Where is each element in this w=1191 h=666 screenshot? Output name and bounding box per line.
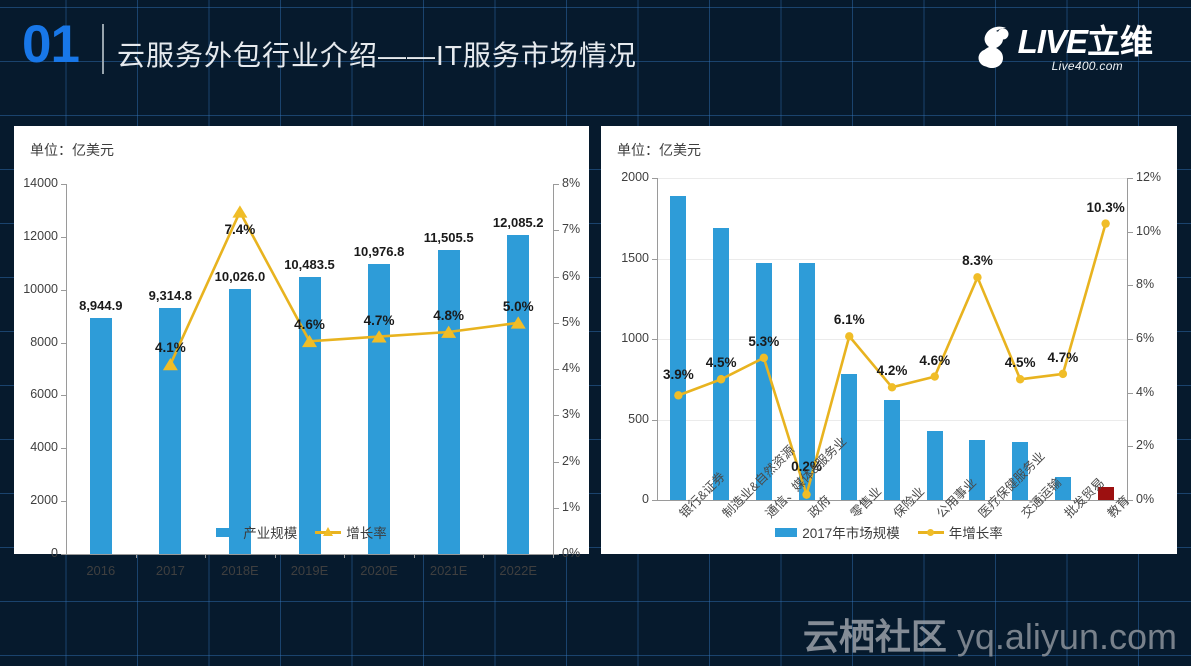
growth-rate-label: 4.8% xyxy=(413,308,485,323)
legend-item-line-right[interactable]: 年增长率 xyxy=(918,522,1003,542)
growth-rate-label: 10.3% xyxy=(1070,200,1142,215)
logo-main-cn: 立维 xyxy=(1087,23,1153,60)
brand-logo: LIVE立维 Live400.com xyxy=(976,22,1153,78)
section-number: 01 xyxy=(22,18,79,71)
legend-line-swatch-icon xyxy=(918,526,944,538)
legend-line-swatch-icon xyxy=(315,526,341,538)
line-marker-dot-icon xyxy=(931,372,939,380)
legend-left: 产业规模 增长率 xyxy=(14,522,589,542)
growth-rate-label: 4.6% xyxy=(899,353,971,368)
title-divider xyxy=(102,24,104,74)
chart-panel-right: 单位：亿美元 05001000150020000%2%4%6%8%10%12%3… xyxy=(601,126,1177,554)
x-axis-tick-label: 2020E xyxy=(339,563,419,578)
line-marker-dot-icon xyxy=(1059,370,1067,378)
line-marker-dot-icon xyxy=(1016,375,1024,383)
x-axis-tick-label: 2016 xyxy=(61,563,141,578)
growth-rate-label: 5.0% xyxy=(482,299,554,314)
legend-label-line-right: 年增长率 xyxy=(949,522,1003,542)
watermark: 云栖社区 yq.aliyun.com xyxy=(803,608,1177,660)
legend-bar-swatch-icon xyxy=(775,528,797,537)
growth-rate-label: 4.6% xyxy=(274,317,346,332)
growth-rate-label: 7.4% xyxy=(204,222,276,237)
line-marker-dot-icon xyxy=(973,273,981,281)
line-marker-triangle-icon xyxy=(163,358,178,370)
line-marker-dot-icon xyxy=(1101,219,1109,227)
line-marker-triangle-icon xyxy=(232,205,247,217)
logo-subtitle: Live400.com xyxy=(1052,59,1123,73)
watermark-brand: 云栖社区 xyxy=(803,608,947,660)
growth-rate-label: 4.7% xyxy=(1027,350,1099,365)
line-marker-dot-icon xyxy=(717,375,725,383)
logo-text-block: LIVE立维 Live400.com xyxy=(1018,26,1153,73)
slide-header: 01 云服务外包行业介绍——IT服务市场情况 LIVE立维 Live400.co… xyxy=(0,0,1191,108)
legend-label-bar-right: 2017年市场规模 xyxy=(802,522,900,542)
watermark-url: yq.aliyun.com xyxy=(957,616,1177,658)
logo-main-en: LIVE xyxy=(1018,23,1087,60)
line-marker-dot-icon xyxy=(674,391,682,399)
growth-rate-label: 6.1% xyxy=(813,312,885,327)
x-axis-tick-label: 2022E xyxy=(478,563,558,578)
line-series-overlay xyxy=(14,126,589,556)
growth-rate-label: 4.7% xyxy=(343,313,415,328)
growth-rate-label: 4.1% xyxy=(134,340,206,355)
line-marker-dot-icon xyxy=(760,354,768,362)
line-marker-dot-icon xyxy=(802,490,810,498)
page-title: 云服务外包行业介绍——IT服务市场情况 xyxy=(117,34,637,74)
legend-item-bar-right[interactable]: 2017年市场规模 xyxy=(775,522,900,542)
growth-rate-label: 5.3% xyxy=(728,334,800,349)
legend-triangle-marker-icon xyxy=(323,527,333,536)
legend-dot-marker-icon xyxy=(927,529,934,536)
line-marker-dot-icon xyxy=(888,383,896,391)
legend-right: 2017年市场规模 年增长率 xyxy=(601,522,1177,542)
logo-wordmark: LIVE立维 xyxy=(1018,26,1153,57)
x-axis-tick-label: 2018E xyxy=(200,563,280,578)
legend-item-bar-left[interactable]: 产业规模 xyxy=(216,522,297,542)
legend-label-bar-left: 产业规模 xyxy=(243,522,297,542)
x-axis-tick-label: 2017 xyxy=(130,563,210,578)
line-marker-dot-icon xyxy=(845,332,853,340)
legend-item-line-left[interactable]: 增长率 xyxy=(315,522,387,542)
legend-label-line-left: 增长率 xyxy=(346,522,387,542)
legend-bar-swatch-icon xyxy=(216,528,238,537)
logo-swirl-icon xyxy=(976,24,1016,70)
x-axis-tick-label: 2019E xyxy=(270,563,350,578)
growth-rate-label: 4.5% xyxy=(685,355,757,370)
growth-rate-label: 8.3% xyxy=(941,253,1013,268)
chart-panel-left: 单位：亿美元 020004000600080001000012000140000… xyxy=(14,126,589,554)
x-axis-tick-label: 2021E xyxy=(409,563,489,578)
